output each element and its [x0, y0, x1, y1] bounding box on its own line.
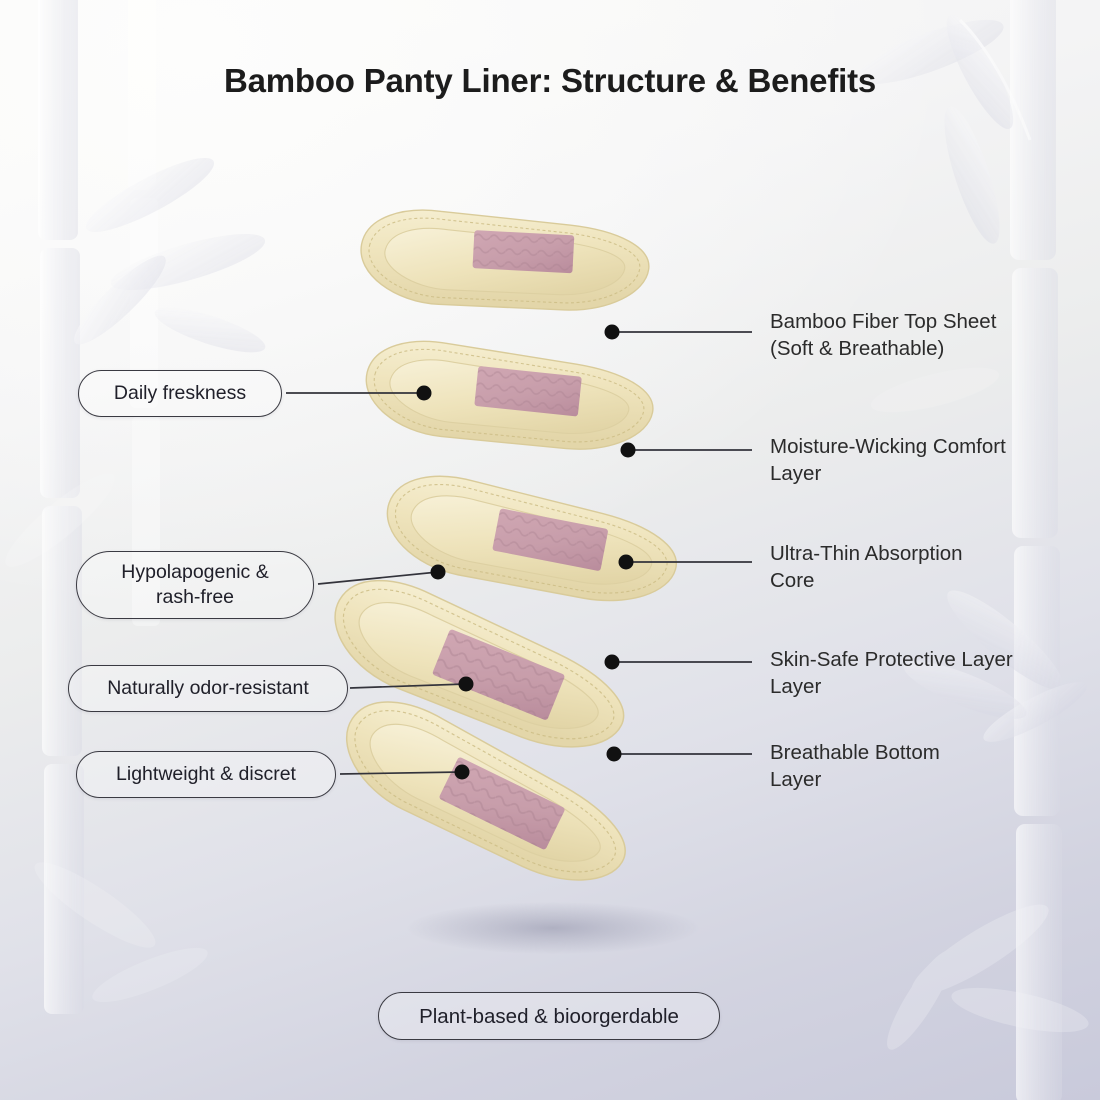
label-top-sheet-line1: Bamboo Fiber Top Sheet	[770, 309, 1070, 336]
dot-absorption-core	[619, 555, 634, 570]
dot-bottom-layer	[607, 747, 622, 762]
label-moisture-wicking: Moisture-Wicking Comfort Layer	[770, 434, 1070, 487]
pill-biodegradable[interactable]: Plant-based & bioorgerdable	[378, 992, 720, 1040]
label-absorption-core: Ultra-Thin Absorption Core	[770, 541, 1070, 594]
dot-lightweight	[455, 765, 470, 780]
pill-odor-resistant[interactable]: Naturally odor-resistant	[68, 665, 348, 712]
label-bottom-layer-line1: Breathable Bottom	[770, 740, 1070, 767]
dot-hypoallergenic	[431, 565, 446, 580]
connector-dots	[417, 325, 636, 780]
connector-odor-resistant	[350, 684, 466, 688]
pill-hypoallergenic[interactable]: Hypolapogenic & rash-free	[76, 551, 314, 619]
dot-moisture-wicking	[621, 443, 636, 458]
pill-hypoallergenic-line2: rash-free	[156, 585, 234, 610]
pill-biodegradable-label: Plant-based & bioorgerdable	[419, 1004, 679, 1029]
pill-lightweight-label: Lightweight & discret	[116, 762, 296, 787]
label-protective-layer-line1: Skin-Safe Protective Layer	[770, 647, 1090, 674]
dot-odor-resistant	[459, 677, 474, 692]
label-bottom-layer-line2: Layer	[770, 767, 1070, 794]
dot-top-sheet	[605, 325, 620, 340]
connector-hypoallergenic	[318, 572, 438, 584]
label-top-sheet: Bamboo Fiber Top Sheet (Soft & Breathabl…	[770, 309, 1070, 362]
pill-lightweight[interactable]: Lightweight & discret	[76, 751, 336, 798]
pill-daily-freshness[interactable]: Daily freskness	[78, 370, 282, 417]
label-absorption-core-line2: Core	[770, 568, 1070, 595]
pill-odor-resistant-label: Naturally odor-resistant	[107, 676, 309, 701]
connector-lightweight	[340, 772, 462, 774]
label-moisture-wicking-line1: Moisture-Wicking Comfort	[770, 434, 1070, 461]
label-absorption-core-line1: Ultra-Thin Absorption	[770, 541, 1070, 568]
pill-daily-freshness-label: Daily freskness	[114, 381, 246, 406]
dot-daily-freshness	[417, 386, 432, 401]
label-bottom-layer: Breathable Bottom Layer	[770, 740, 1070, 793]
label-protective-layer: Skin-Safe Protective Layer Layer	[770, 647, 1090, 700]
pill-hypoallergenic-line1: Hypolapogenic &	[121, 560, 268, 585]
dot-protective-layer	[605, 655, 620, 670]
infographic-canvas: Bamboo Panty Liner: Structure & Benefits	[0, 0, 1100, 1100]
label-protective-layer-line2: Layer	[770, 674, 1090, 701]
label-moisture-wicking-line2: Layer	[770, 461, 1070, 488]
label-top-sheet-line2: (Soft & Breathable)	[770, 336, 1070, 363]
